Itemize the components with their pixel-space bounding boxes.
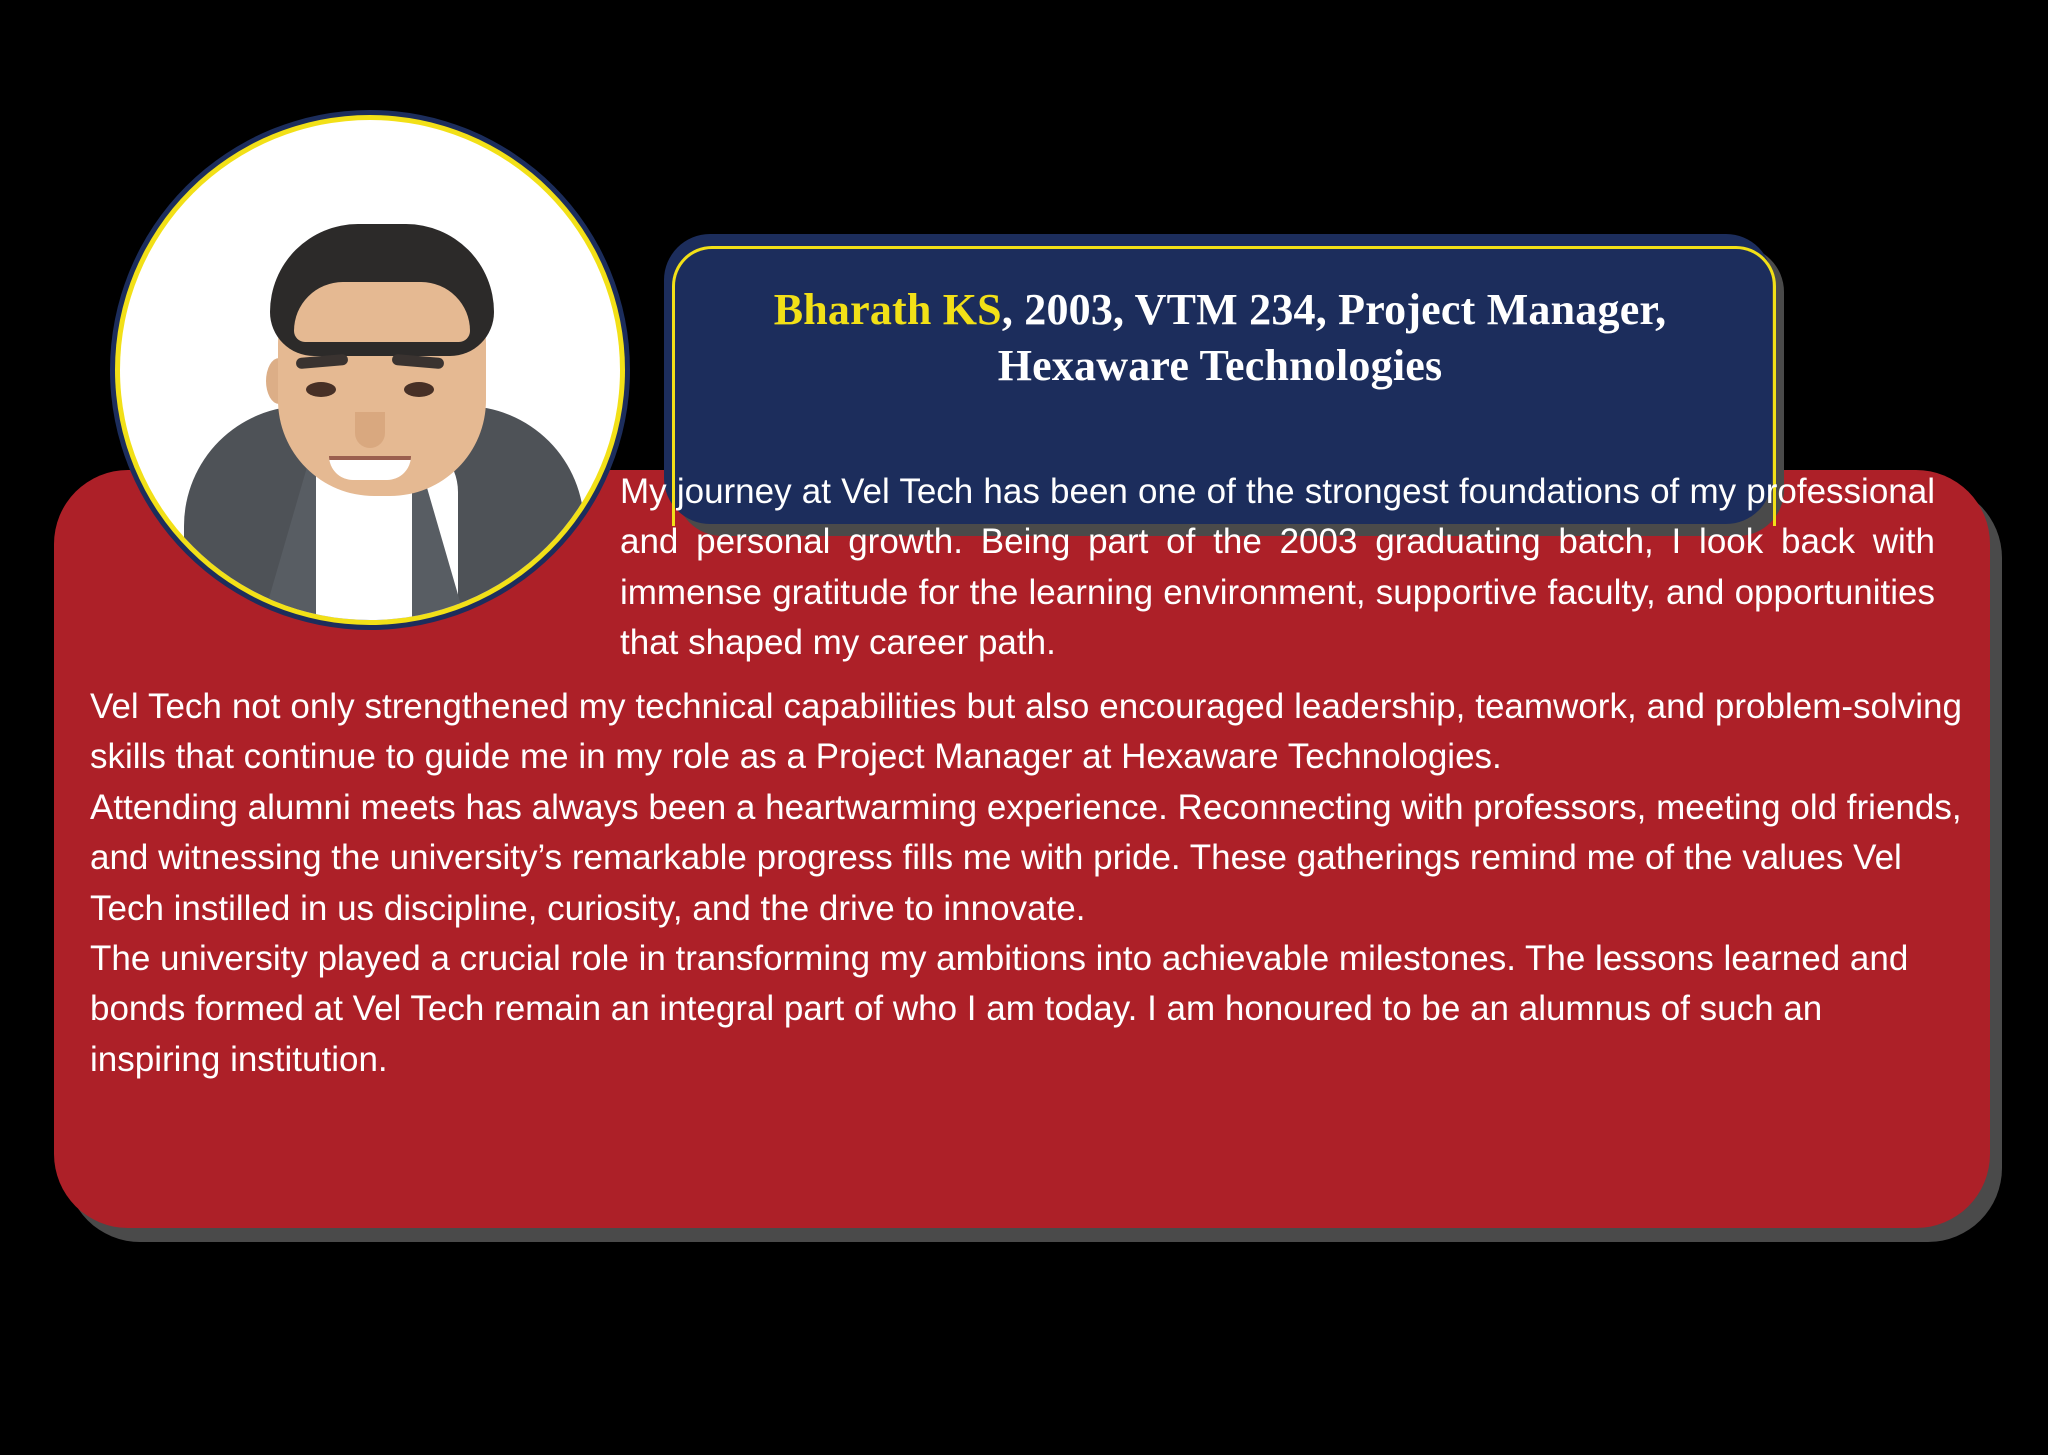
header-title-line-2: Hexaware Technologies [680,338,1760,394]
alumnus-name: Bharath KS [774,285,1002,334]
testimonial-paragraph-3: Attending alumni meets has always been a… [90,783,1962,934]
portrait-eye-right [404,382,434,397]
testimonial-paragraph-2: Vel Tech not only strengthened my techni… [90,682,1962,783]
testimonial-card-stage: Bharath KS, 2003, VTM 234, Project Manag… [0,0,2048,1455]
avatar [120,120,620,620]
testimonial-body: Vel Tech not only strengthened my techni… [90,682,1962,1085]
avatar-inner-ring [115,115,625,625]
avatar-outer-ring [110,110,630,630]
portrait-mouth [329,456,411,480]
portrait-hair [270,224,494,356]
header-title-line-1: Bharath KS, 2003, VTM 234, Project Manag… [680,282,1760,338]
portrait-nose [355,412,385,448]
testimonial-paragraph-1: My journey at Vel Tech has been one of t… [620,467,1935,669]
header-title: Bharath KS, 2003, VTM 234, Project Manag… [680,282,1760,395]
portrait-eye-left [306,382,336,397]
alumnus-details: , 2003, VTM 234, Project Manager, [1002,285,1666,334]
testimonial-paragraph-4: The university played a crucial role in … [90,934,1962,1085]
